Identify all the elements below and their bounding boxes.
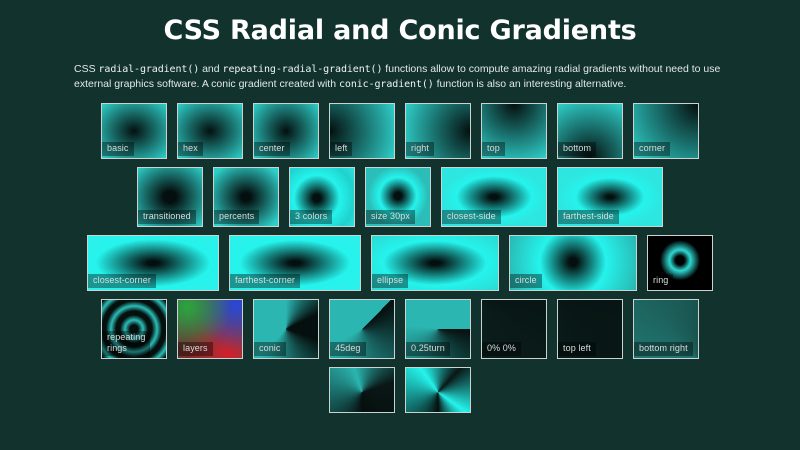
- gradient-tile-label: 0.25turn: [406, 342, 450, 356]
- row-1-radial-positions: basichexcenterleftrighttopbottomcorner: [0, 103, 800, 159]
- gradient-tile[interactable]: bottom right: [633, 299, 699, 359]
- gradient-tile-label: ring: [648, 274, 673, 288]
- intro-paragraph: CSS radial-gradient() and repeating-radi…: [74, 62, 726, 92]
- gradient-tile-label: 3 colors: [290, 210, 332, 224]
- gradient-tile-label: farthest-corner: [230, 274, 300, 288]
- gradient-tile[interactable]: center: [253, 103, 319, 159]
- gradient-tile-label: layers: [178, 342, 213, 356]
- intro-text-2: and: [199, 63, 222, 75]
- row-2-stops-and-sizes: transitionedpercents3 colorssize 30pxclo…: [0, 167, 800, 227]
- intro-text-4: function is also an interesting alternat…: [434, 78, 627, 90]
- gradient-tile-label: closest-side: [442, 210, 501, 224]
- code-radial-gradient: radial-gradient(): [99, 64, 200, 75]
- gradient-tile[interactable]: right: [405, 103, 471, 159]
- gradient-tile[interactable]: top left: [557, 299, 623, 359]
- gradient-tile[interactable]: 3 colors: [289, 167, 355, 227]
- gradient-tile[interactable]: corner: [633, 103, 699, 159]
- gradient-tile[interactable]: conic: [253, 299, 319, 359]
- gradient-tile[interactable]: closest-corner: [87, 235, 219, 291]
- gradient-tile[interactable]: left: [329, 103, 395, 159]
- gradient-tile[interactable]: repeating rings: [101, 299, 167, 359]
- gradient-tile-label: corner: [634, 142, 670, 156]
- gradient-tile[interactable]: closest-side: [441, 167, 547, 227]
- page-title: CSS Radial and Conic Gradients: [0, 0, 800, 46]
- gradient-tile-label: top left: [558, 342, 596, 356]
- gradient-tile[interactable]: ring: [647, 235, 713, 291]
- gradient-tile[interactable]: size 30px: [365, 167, 431, 227]
- gradient-tile-label: hex: [178, 142, 203, 156]
- gradient-tile-label: closest-corner: [88, 274, 156, 288]
- gradient-tile[interactable]: ellipse: [371, 235, 499, 291]
- gradient-tile[interactable]: basic: [101, 103, 167, 159]
- gradient-tile-label: size 30px: [366, 210, 415, 224]
- gradient-tile-label: left: [330, 142, 352, 156]
- gradient-tile[interactable]: 0.25turn: [405, 299, 471, 359]
- gradient-tile-label: 0% 0%: [482, 342, 521, 356]
- gradient-tile-label: right: [406, 142, 434, 156]
- gradient-tile[interactable]: circle: [509, 235, 637, 291]
- row-3-extent-keywords: closest-cornerfarthest-cornerellipsecirc…: [0, 235, 800, 291]
- gradient-tile-label: 45deg: [330, 342, 366, 356]
- gradient-tile[interactable]: 0% 0%: [481, 299, 547, 359]
- gradient-tile[interactable]: farthest-side: [557, 167, 663, 227]
- gradient-tile-label: basic: [102, 142, 134, 156]
- intro-text-1: CSS: [74, 63, 99, 75]
- row-5-conic-extra: [0, 367, 800, 413]
- gradient-tile-label: farthest-side: [558, 210, 619, 224]
- gradient-tile-label: ellipse: [372, 274, 408, 288]
- gradient-tile[interactable]: 45deg: [329, 299, 395, 359]
- gradient-tile-label: repeating rings: [102, 331, 150, 356]
- gradient-tile[interactable]: bottom: [557, 103, 623, 159]
- gradient-tile-label: bottom right: [634, 342, 693, 356]
- gradient-tile-label: bottom: [558, 142, 596, 156]
- gradient-tile-label: circle: [510, 274, 542, 288]
- gradient-tile[interactable]: transitioned: [137, 167, 203, 227]
- gradient-tile-label: center: [254, 142, 290, 156]
- gradient-tile[interactable]: percents: [213, 167, 279, 227]
- gradient-tile[interactable]: [405, 367, 471, 413]
- row-4-repeating-and-conic: repeating ringslayersconic45deg0.25turn0…: [0, 299, 800, 359]
- gradient-tile[interactable]: [329, 367, 395, 413]
- gradient-tile[interactable]: hex: [177, 103, 243, 159]
- gradient-tile[interactable]: top: [481, 103, 547, 159]
- gradient-tile-label: transitioned: [138, 210, 196, 224]
- gradient-tile[interactable]: layers: [177, 299, 243, 359]
- gradient-tile-label: percents: [214, 210, 259, 224]
- code-conic-gradient: conic-gradient(): [339, 79, 434, 90]
- gradient-tile-label: conic: [254, 342, 286, 356]
- gradient-rows: basichexcenterleftrighttopbottomcornertr…: [0, 103, 800, 413]
- gradients-demo-page: CSS Radial and Conic Gradients CSS radia…: [0, 0, 800, 450]
- gradient-tile-label: top: [482, 142, 505, 156]
- gradient-tile[interactable]: farthest-corner: [229, 235, 361, 291]
- code-repeating-radial-gradient: repeating-radial-gradient(): [223, 64, 383, 75]
